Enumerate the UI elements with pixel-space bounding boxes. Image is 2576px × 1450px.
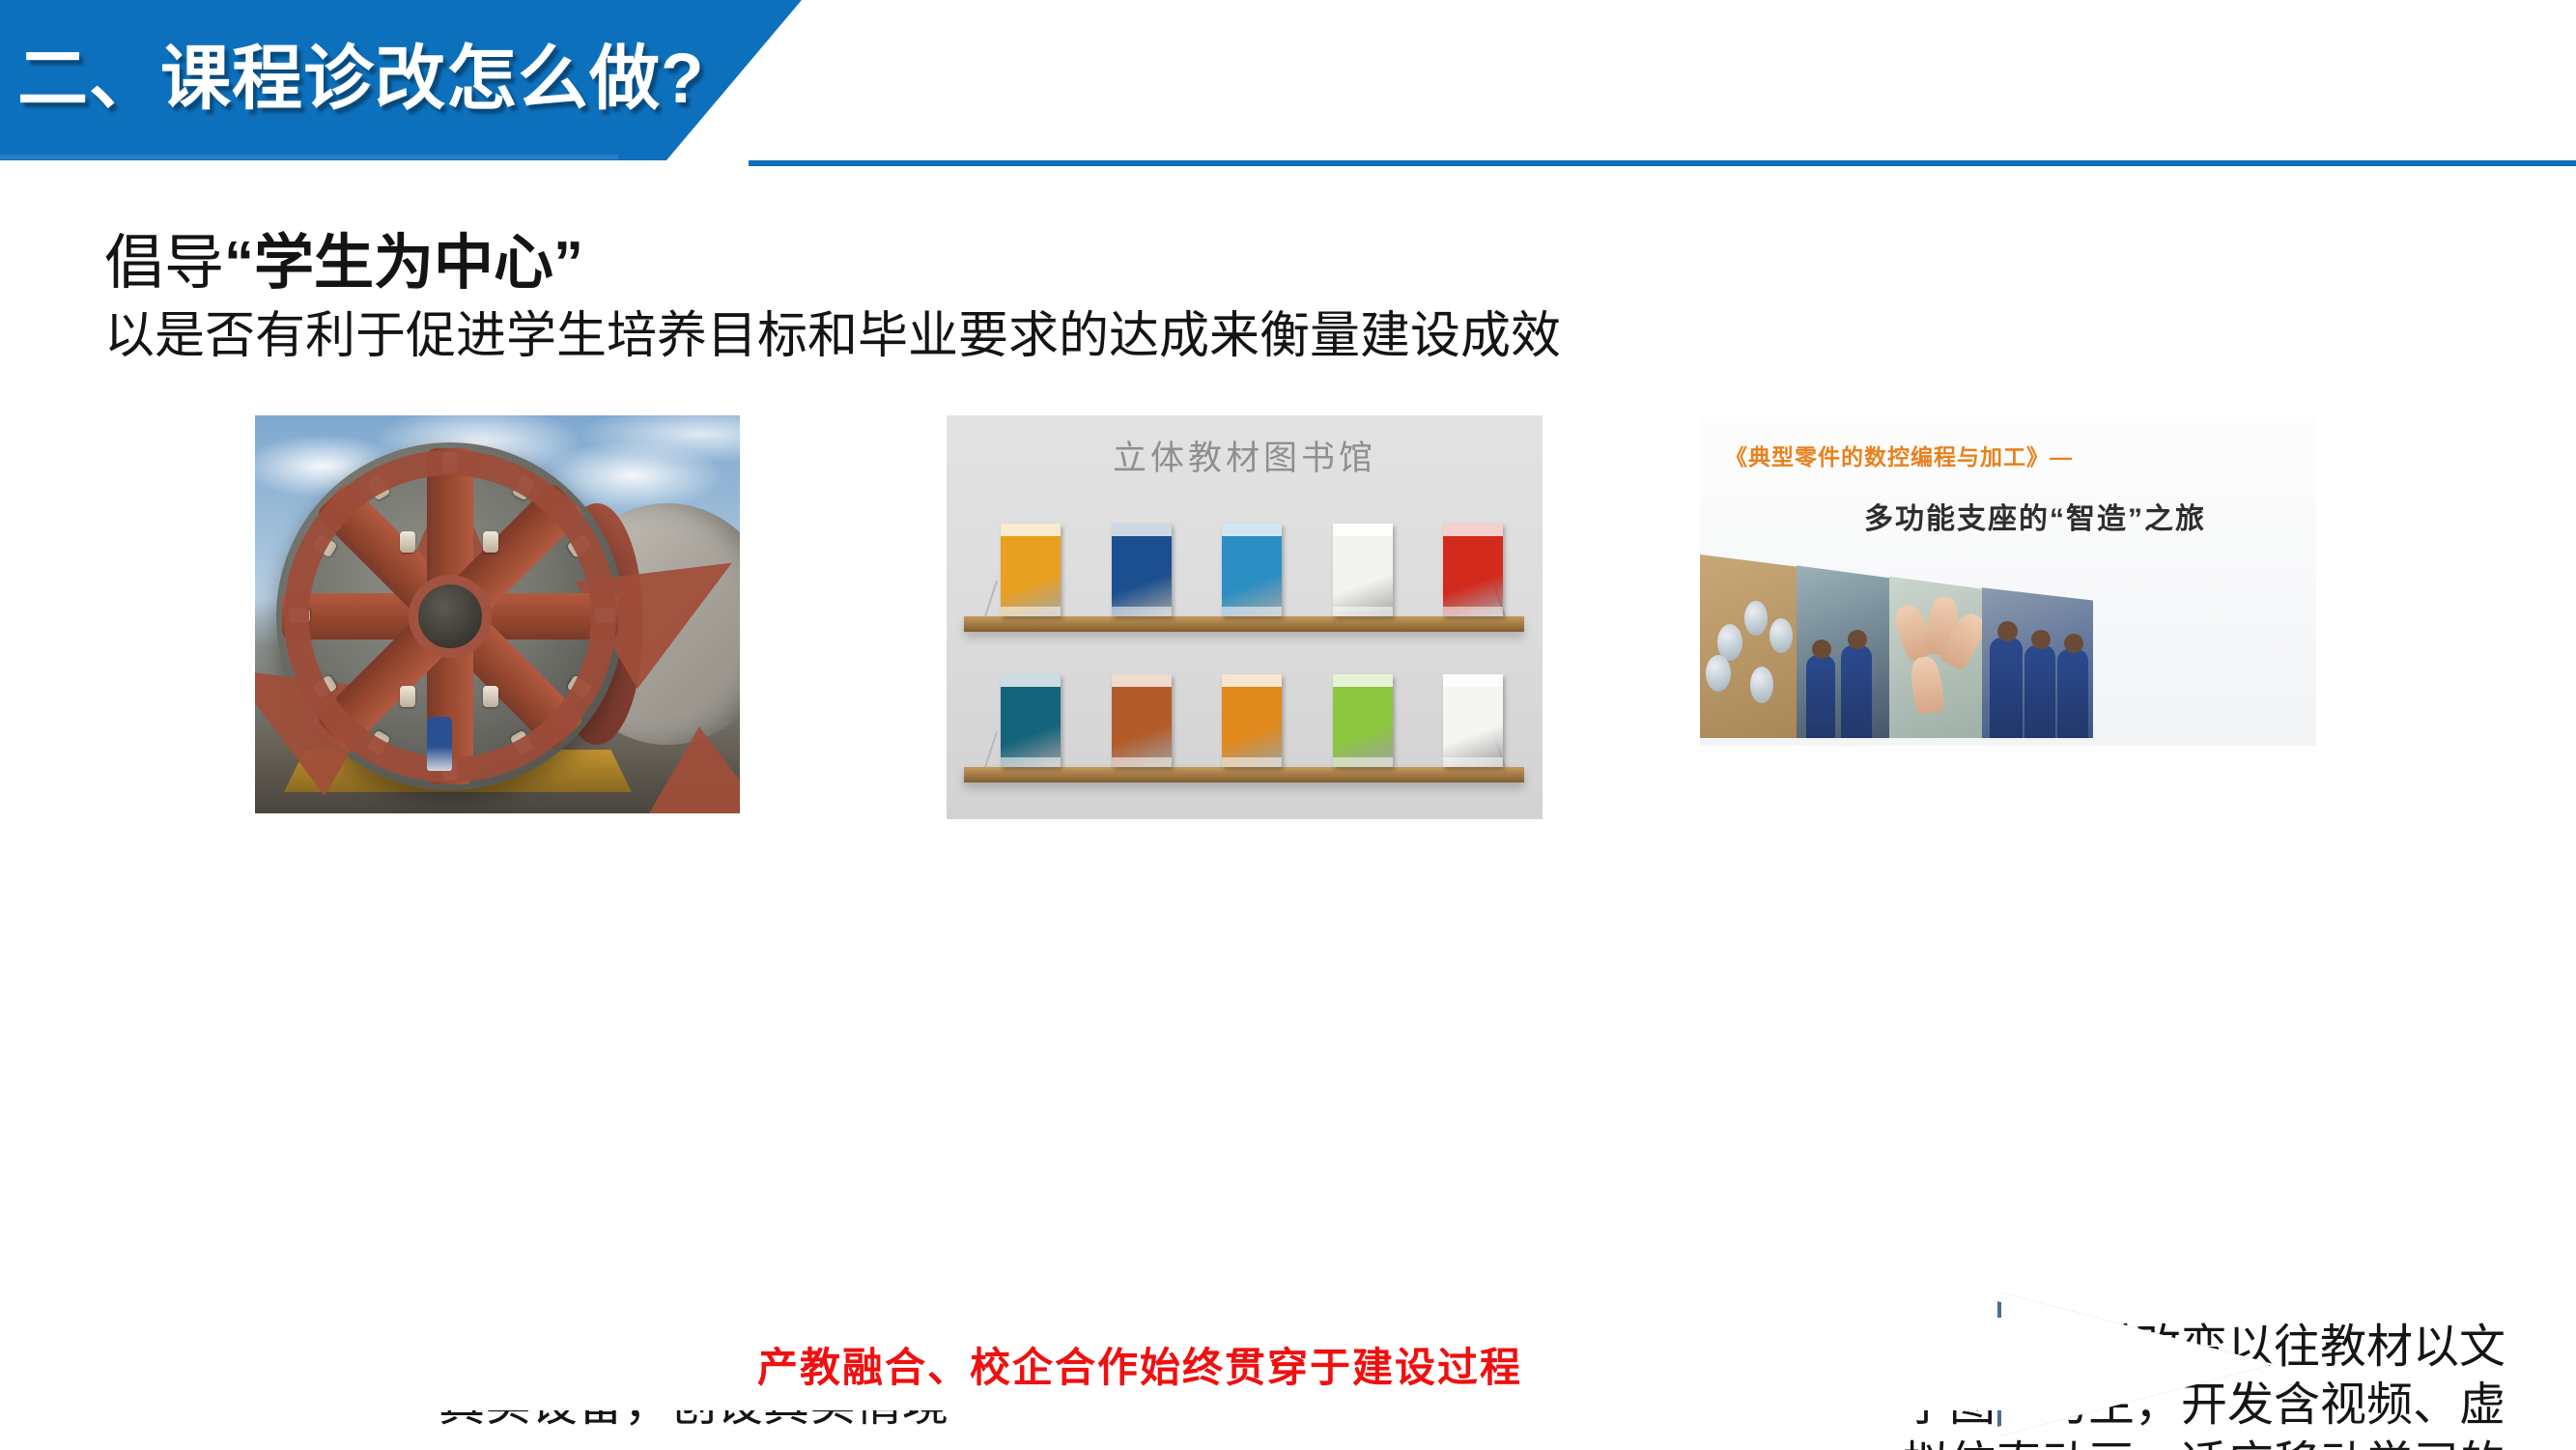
tbm-scene <box>255 415 740 813</box>
collage-overlay-title-2: 多功能支座的“智造”之旅 <box>1864 495 2206 537</box>
header-banner-underline <box>0 155 618 159</box>
course-resource-collage-photo: 《典型零件的数控编程与加工》— 多功能支座的“智造”之旅 <box>1700 415 2316 746</box>
tbm-spoke <box>282 593 618 640</box>
collage-scene: 《典型零件的数控编程与加工》— 多功能支座的“智造”之旅 <box>1700 415 2316 746</box>
book-item <box>1112 524 1172 616</box>
tbm-cutter-tooth <box>512 475 535 501</box>
student-head <box>2031 630 2051 649</box>
workpiece-part <box>1769 618 1793 653</box>
book-item <box>1222 524 1282 616</box>
bookshelf-scene: 立体教材图书馆 <box>947 415 1543 819</box>
tbm-wedge-segment <box>388 471 512 616</box>
lead-heading-prefix: 倡导 <box>104 230 224 297</box>
shelf-board-bottom <box>964 767 1524 782</box>
tbm-cutter-tooth <box>510 729 534 755</box>
book-item <box>1443 674 1503 767</box>
student-head <box>1848 630 1867 649</box>
tbm-cutter-tooth <box>400 686 415 707</box>
lead-subtext: 以是否有利于促进学生培养目标和毕业要求的达成来衡量建设成效 <box>104 304 1939 370</box>
tbm-cutter-tooth <box>566 533 592 558</box>
workpiece-part <box>1750 667 1773 703</box>
collage-panel-hands <box>1889 554 1986 738</box>
student-figure <box>1990 638 2023 738</box>
book-item <box>1333 674 1393 767</box>
student-head <box>1997 621 2018 641</box>
student-head <box>2064 634 2083 653</box>
tbm-spoke <box>315 481 585 752</box>
tbm-cutter-tooth <box>311 674 337 698</box>
workpiece-part <box>1744 601 1768 636</box>
column-2: 立体教材图书馆 <box>947 415 1545 819</box>
collage-panel-workpieces <box>1700 554 1801 738</box>
book-item <box>1443 524 1503 616</box>
tbm-worker-figure <box>427 717 452 771</box>
page-title: 二、课程诊改怎么做? <box>17 19 751 126</box>
tbm-cutter-tooth <box>367 729 391 755</box>
three-column-group: 实训基地建设时采用行业企业真实设备，创设真实情境 立体教材图书馆 <box>0 415 2576 1265</box>
book-row-bottom <box>1001 674 1503 767</box>
tbm-cutter-tooth <box>483 531 498 553</box>
shelf-board-top <box>964 616 1524 632</box>
lead-heading-emphasis: “学生为中心” <box>224 230 583 297</box>
tbm-center-hub <box>409 575 492 658</box>
book-item <box>1333 524 1393 616</box>
workpiece-part <box>1706 655 1731 692</box>
book-item <box>1001 674 1061 767</box>
arrow-banner: 产教融合、校企合作始终贯穿于建设过程 <box>278 1293 2274 1436</box>
student-figure <box>1806 655 1835 738</box>
book-item <box>1222 674 1282 767</box>
tbm-cutter-tooth <box>483 686 498 707</box>
slide-root: 二、课程诊改怎么做? 倡导“学生为中心” 以是否有利于促进学生培养目标和毕业要求… <box>0 0 2576 1450</box>
tbm-cutter-tooth <box>367 474 391 500</box>
lead-text-block: 倡导“学生为中心” 以是否有利于促进学生培养目标和毕业要求的达成来衡量建设成效 <box>104 228 1939 370</box>
collage-overlay-title-1: 《典型零件的数控编程与加工》— <box>1725 439 2073 471</box>
book-item <box>1001 524 1061 616</box>
student-head <box>1812 640 1831 659</box>
tbm-cutter-tooth <box>289 608 311 624</box>
hand-figure <box>1909 655 1945 715</box>
book-row-top <box>1001 524 1503 616</box>
lead-heading: 倡导“学生为中心” <box>104 228 1939 299</box>
arrow-banner-label: 产教融合、校企合作始终贯穿于建设过程 <box>278 1318 2001 1410</box>
collage-image-strip <box>1700 554 2316 738</box>
header-rule <box>749 160 2576 166</box>
tbm-cutter-tooth <box>594 608 616 624</box>
tbm-cutter-tooth <box>400 531 415 553</box>
stereoscopic-textbook-library-photo: 立体教材图书馆 <box>947 415 1543 819</box>
tbm-cutter-tooth <box>566 674 592 698</box>
tunnel-boring-machine-photo <box>255 415 740 813</box>
tbm-spoke <box>315 481 585 752</box>
column-1: 实训基地建设时采用行业企业真实设备，创设真实情境 <box>255 415 748 813</box>
student-figure <box>1841 645 1872 738</box>
book-item <box>1112 674 1172 767</box>
student-figure <box>2024 645 2055 738</box>
tbm-cutter-tooth <box>442 452 458 473</box>
tbm-cutter-tooth <box>311 534 337 558</box>
student-figure <box>2057 649 2088 738</box>
collage-panel-team <box>1982 554 2093 738</box>
column-3: 《典型零件的数控编程与加工》— 多功能支座的“智造”之旅 <box>1700 415 2395 746</box>
collage-panel-workshop <box>1797 554 1893 738</box>
bookshelf-overlay-title: 立体教材图书馆 <box>947 431 1543 480</box>
